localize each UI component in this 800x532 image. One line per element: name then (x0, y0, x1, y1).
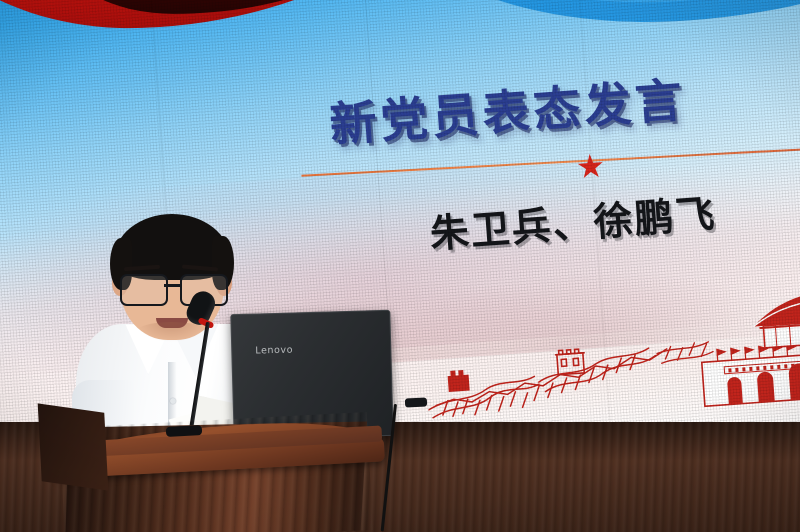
glasses-lens-left (120, 274, 168, 306)
podium-left-side (38, 403, 109, 490)
cable-connector (405, 397, 427, 407)
shirt-button (170, 398, 176, 404)
photo-scene: 新党员表态发言 朱卫兵、徐鹏飞 (0, 0, 800, 532)
microphone-base (166, 425, 202, 437)
laptop-brand-logo: Lenovo (255, 345, 293, 357)
tiananmen-gate-icon (697, 288, 800, 406)
glasses-bridge (164, 284, 182, 287)
